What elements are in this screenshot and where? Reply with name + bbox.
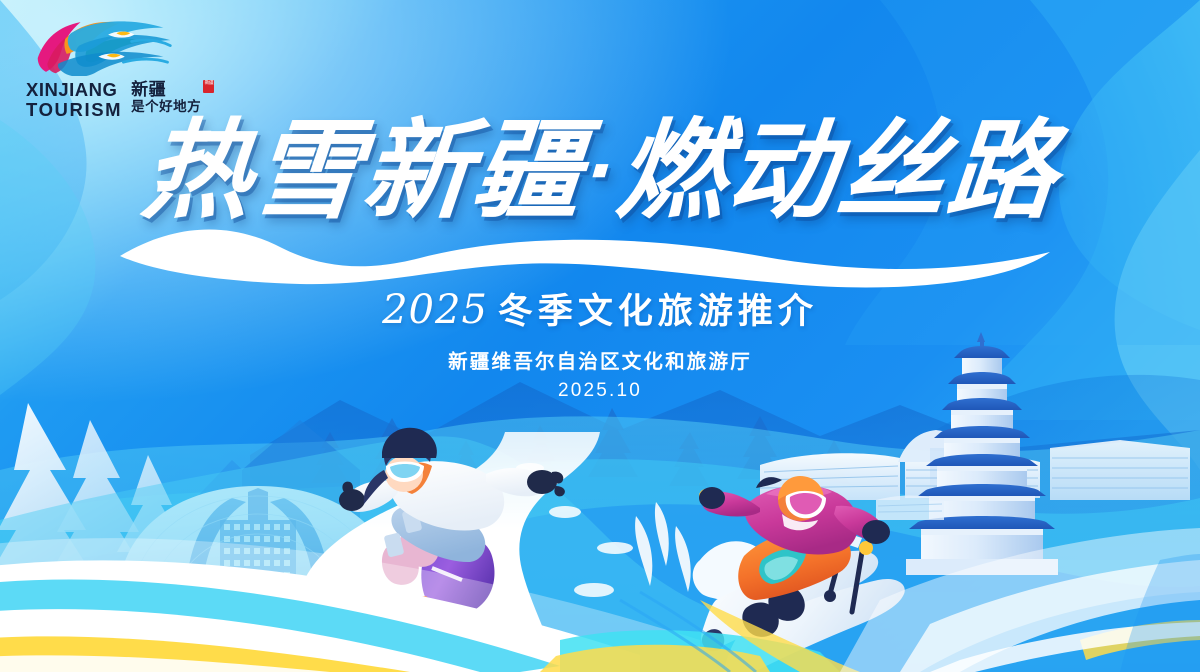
main-title-part1: 热雪新疆 — [137, 109, 588, 234]
subtitle-text: 冬季文化旅游推介 — [498, 292, 818, 331]
brand-latin-line2: TOURISM — [26, 100, 122, 120]
brand-cn-line1: 新疆 — [131, 80, 201, 99]
xinjiang-tourism-logo[interactable]: XINJIANG TOURISM 新疆 是个好地方 新疆 — [26, 18, 206, 120]
brand-seal-icon: 新疆 — [203, 80, 214, 93]
poster-canvas: XINJIANG TOURISM 新疆 是个好地方 新疆 热雪新疆·燃动丝路 2… — [0, 0, 1200, 672]
organizer-name: 新疆维吾尔自治区文化和旅游厅 — [0, 347, 1200, 377]
main-title-block: 热雪新疆·燃动丝路 — [0, 118, 1200, 226]
brand-latin-line1: XINJIANG — [26, 80, 122, 100]
subtitle-year: 2025 — [382, 287, 498, 333]
brand-wordmark: XINJIANG TOURISM 新疆 是个好地方 新疆 — [26, 80, 206, 120]
main-title: 热雪新疆·燃动丝路 — [138, 118, 1062, 226]
xinjiang-tourism-emblem — [34, 18, 174, 76]
brand-cn-line2: 是个好地方 — [131, 99, 201, 114]
subtitle-line: 2025冬季文化旅游推介 — [0, 288, 1200, 332]
organizer-date: 2025.10 — [0, 377, 1200, 406]
subtitle-block: 2025冬季文化旅游推介 新疆维吾尔自治区文化和旅游厅 2025.10 — [0, 288, 1200, 406]
main-title-part2: 燃动丝路 — [612, 109, 1063, 234]
